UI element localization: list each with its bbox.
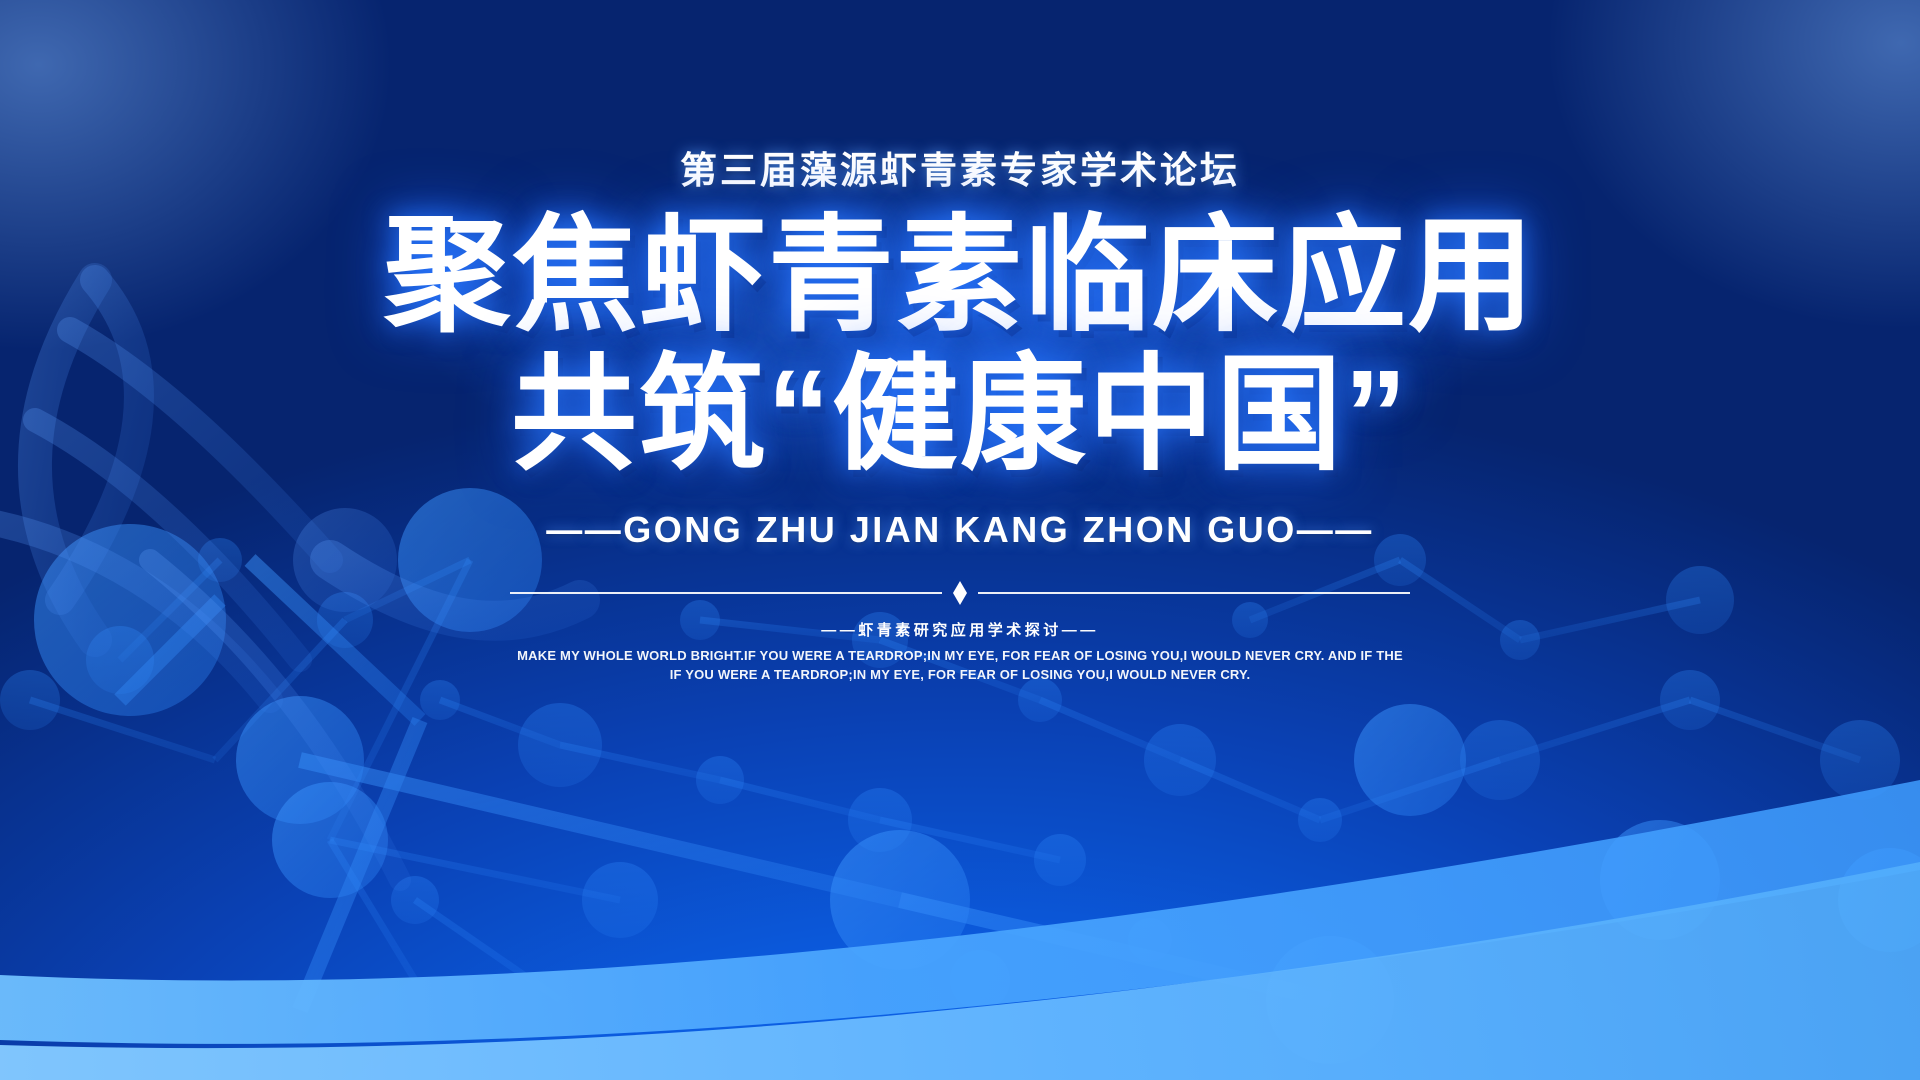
- page-title: 聚焦虾青素临床应用 共筑“健康中国”: [384, 212, 1536, 479]
- footnote-chinese: ——虾青素研究应用学术探讨——: [517, 619, 1403, 640]
- divider-rule-left: [510, 592, 942, 594]
- event-series-title: 第三届藻源虾青素专家学术论坛: [680, 140, 1240, 194]
- footnote-block: ——虾青素研究应用学术探讨—— MAKE MY WHOLE WORLD BRIG…: [517, 619, 1403, 685]
- conference-banner: 第三届藻源虾青素专家学术论坛 聚焦虾青素临床应用 共筑“健康中国” ——GONG…: [0, 0, 1920, 1080]
- footnote-english-line-1: MAKE MY WHOLE WORLD BRIGHT.IF YOU WERE A…: [517, 647, 1403, 666]
- diamond-icon: [953, 581, 967, 605]
- divider: [510, 581, 1410, 605]
- headline-line-1: 聚焦虾青素临床应用: [384, 212, 1536, 341]
- footnote-english-line-2: IF YOU WERE A TEARDROP;IN MY EYE, FOR FE…: [517, 666, 1403, 685]
- headline-pinyin: ——GONG ZHU JIAN KANG ZHON GUO——: [546, 509, 1374, 551]
- divider-rule-right: [978, 592, 1410, 594]
- headline-line-2: 共筑“健康中国”: [384, 351, 1536, 480]
